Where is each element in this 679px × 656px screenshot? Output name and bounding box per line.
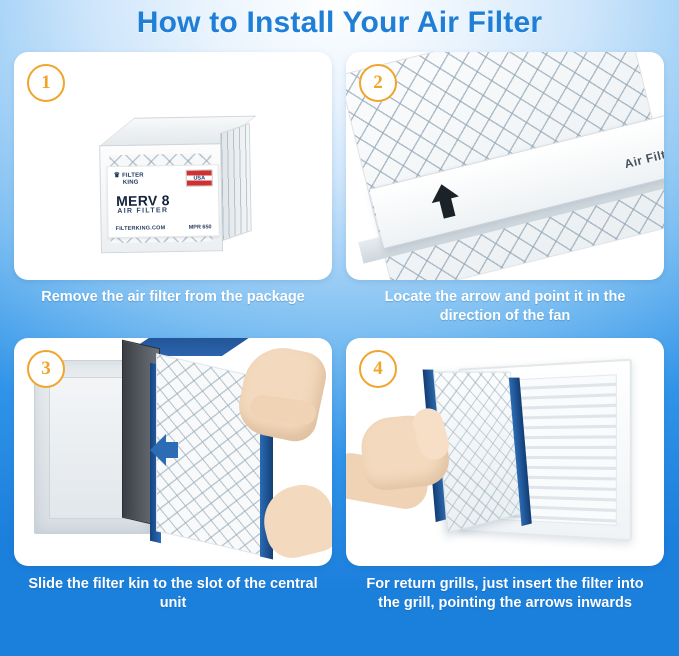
frame-label-text: Air Filter <box>623 144 664 171</box>
step-card-3: 3 <box>14 338 332 613</box>
step-1-number-badge: 1 <box>27 64 65 102</box>
steps-grid: 1 ♛ FILTER KING <box>14 52 665 613</box>
product-website: FILTERKING.COM <box>116 225 166 232</box>
brand-block: ♛ FILTER KING <box>114 172 144 188</box>
step-4-image-card: 4 <box>346 338 664 566</box>
step-1-image-card: 1 ♛ FILTER KING <box>14 52 332 280</box>
brand-line-1: FILTER <box>122 173 144 179</box>
step-2-caption: Locate the arrow and point it in the dir… <box>355 288 655 326</box>
product-subtitle: AIR FILTER <box>117 207 168 215</box>
filter-box-side-pleats <box>220 123 252 241</box>
filter-box-front-face: ♛ FILTER KING USA MERV 8 AIR FILTER FILT… <box>99 143 223 253</box>
step-card-1: 1 ♛ FILTER KING <box>14 52 332 326</box>
step-card-4: 4 For return grills, just insert the fil… <box>346 338 664 613</box>
crown-icon: ♛ <box>114 172 121 179</box>
infographic-page: How to Install Your Air Filter 1 ♛ <box>0 0 679 656</box>
step-3-number-badge: 3 <box>27 350 65 388</box>
step-2-image-card: 2 Air Filter <box>346 52 664 280</box>
page-title: How to Install Your Air Filter <box>0 4 679 42</box>
brand-line-2: KING <box>123 180 139 186</box>
usa-flag-icon: USA <box>186 169 213 186</box>
airflow-arrow-icon <box>427 181 464 221</box>
step-card-2: 2 Air Filter Loc <box>346 52 664 326</box>
step-3-image-card: 3 <box>14 338 332 566</box>
step-4-number-badge: 4 <box>359 350 397 388</box>
filter-product-label: ♛ FILTER KING USA MERV 8 AIR FILTER FILT… <box>107 164 220 238</box>
insert-arrow-icon <box>146 428 180 472</box>
step-1-caption: Remove the air filter from the package <box>23 288 323 307</box>
step-4-caption: For return grills, just insert the filte… <box>355 575 655 613</box>
step-3-caption: Slide the filter kin to the slot of the … <box>23 575 323 613</box>
product-rating: MPR 650 <box>189 224 212 230</box>
step-2-number-badge: 2 <box>359 64 397 102</box>
